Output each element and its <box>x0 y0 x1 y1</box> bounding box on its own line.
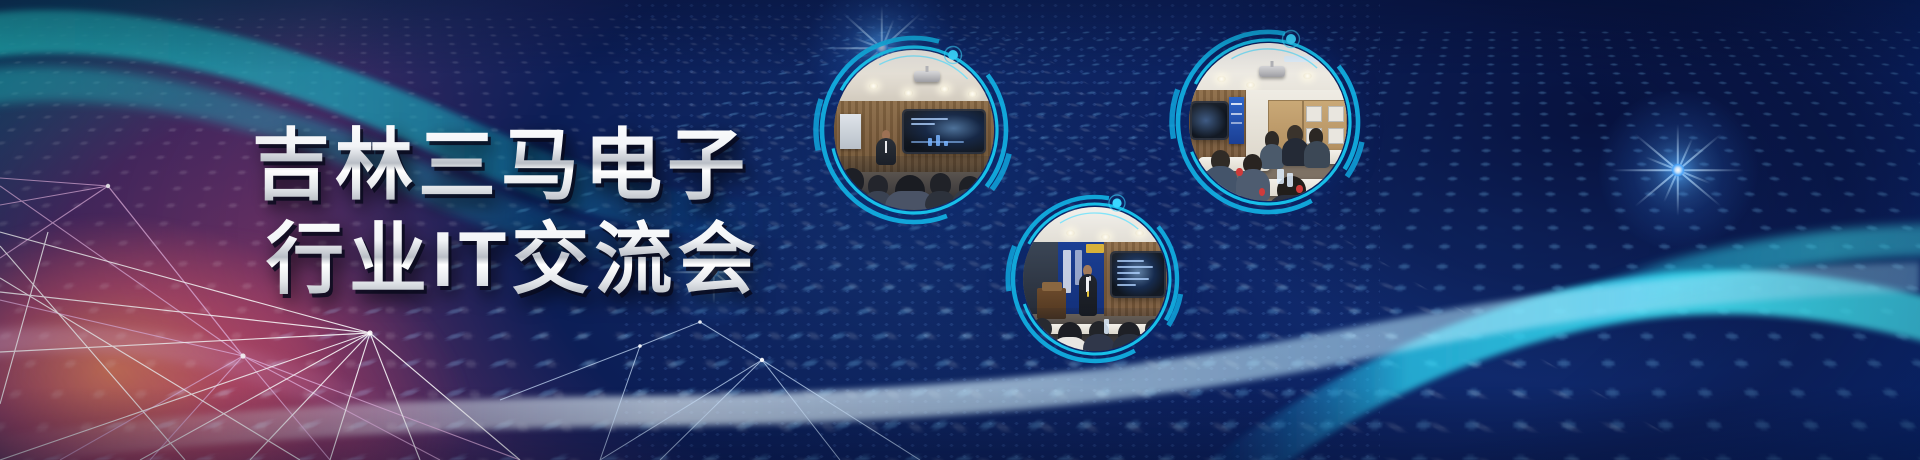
network-lines-bottom-center <box>500 322 920 460</box>
event-banner: 吉林三马电子 行业IT交流会 <box>0 0 1920 460</box>
photo-meeting-room[interactable] <box>1168 22 1368 222</box>
ring-node-dot <box>1112 198 1121 207</box>
photo-presentation[interactable] <box>1004 188 1186 370</box>
ring-node-dot <box>948 50 958 60</box>
medallion-ring-presentation <box>1004 188 1186 370</box>
headline-line-1: 吉林三马电子 <box>252 118 812 212</box>
page-title: 吉林三马电子 行业IT交流会 <box>252 118 812 306</box>
photo-lecture-hall[interactable] <box>812 28 1016 232</box>
medallion-ring-lecture <box>812 28 1016 232</box>
headline-line-2: 行业IT交流会 <box>266 212 812 306</box>
ring-node-dot <box>1286 34 1296 44</box>
medallion-ring-meeting <box>1168 22 1368 222</box>
